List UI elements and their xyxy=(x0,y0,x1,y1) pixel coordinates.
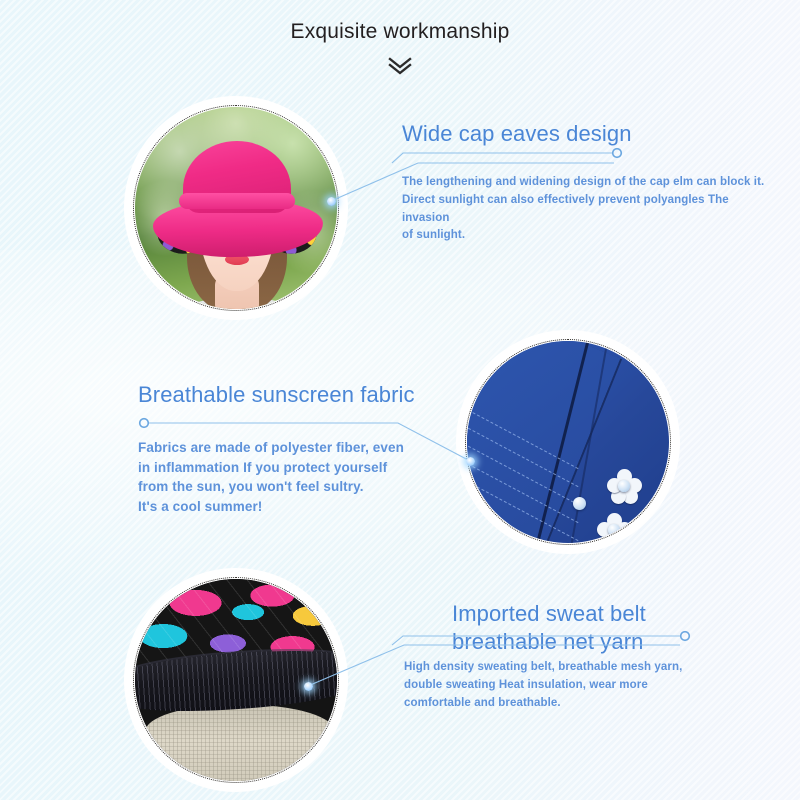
infographic-page: Exquisite workmanship xyxy=(0,0,800,800)
section-body-wide-cap-eaves: The lengthening and widening design of t… xyxy=(402,174,774,245)
product-photo-wide-cap-eaves[interactable] xyxy=(124,96,348,320)
section-heading-wide-cap-eaves: Wide cap eaves design xyxy=(402,120,782,148)
page-title: Exquisite workmanship xyxy=(0,0,800,44)
chevron-double-down-icon xyxy=(386,56,414,76)
section-body-imported-sweat-belt: High density sweating belt, breathable m… xyxy=(404,659,744,712)
section-heading-imported-sweat-belt: Imported sweat belt breathable net yarn xyxy=(452,600,772,656)
flower-decoration xyxy=(607,469,641,503)
photo-image-area xyxy=(135,579,337,781)
hat-band xyxy=(179,193,295,209)
hotspot-sweat-belt[interactable] xyxy=(304,682,313,691)
section-heading-breathable-sunscreen-fabric: Breathable sunscreen fabric xyxy=(138,381,468,409)
section-body-breathable-sunscreen-fabric: Fabrics are made of polyester fiber, eve… xyxy=(138,438,458,516)
product-photo-breathable-fabric[interactable] xyxy=(456,330,680,554)
hotspot-wide-cap-eaves[interactable] xyxy=(327,197,336,206)
header: Exquisite workmanship xyxy=(0,0,800,76)
product-photo-sweat-belt[interactable] xyxy=(124,568,348,792)
flower-decoration xyxy=(597,513,631,543)
hotspot-breathable-fabric[interactable] xyxy=(466,457,475,466)
mesh-net-yarn xyxy=(145,705,335,781)
loose-pearl-bead xyxy=(573,497,586,510)
photo-image-area xyxy=(467,341,669,543)
background-highlight-wash xyxy=(0,250,800,610)
photo-image-area xyxy=(135,107,337,309)
pearl-center xyxy=(618,480,630,492)
